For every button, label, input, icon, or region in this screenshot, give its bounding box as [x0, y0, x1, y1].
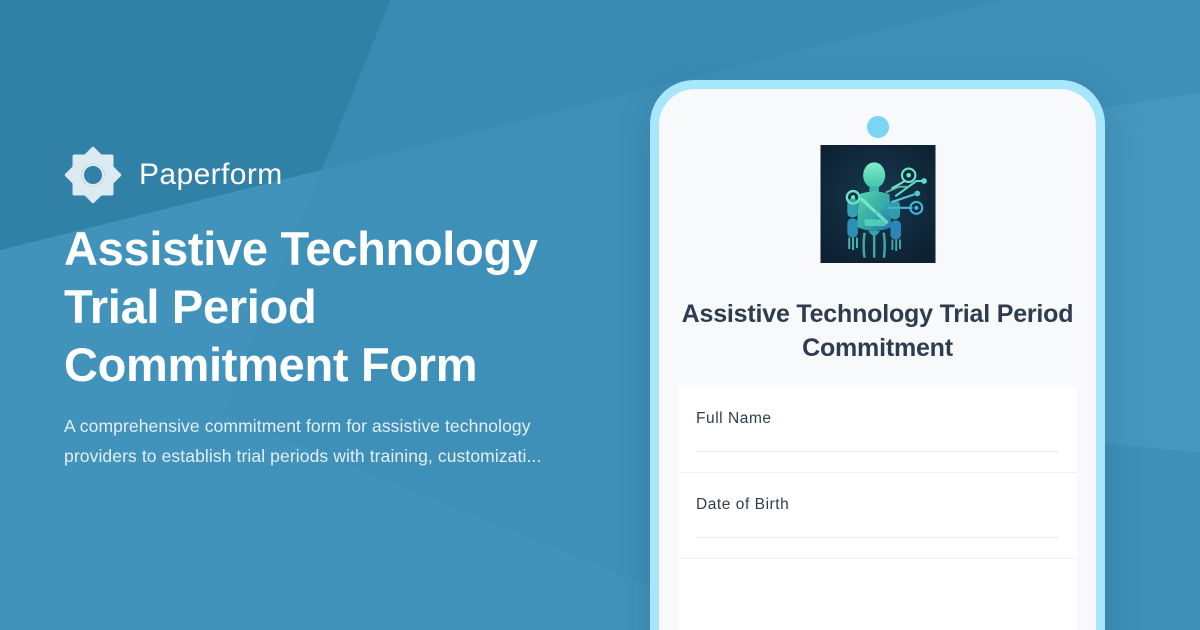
- form-field-date-of-birth[interactable]: Date of Birth: [678, 473, 1077, 559]
- form-field-next[interactable]: [678, 559, 1077, 630]
- hero-text-column: Paperform Assistive Technology Trial Per…: [64, 0, 604, 630]
- paperform-star-logo-icon: [64, 146, 122, 204]
- form-field-list: Full Name Date of Birth: [678, 387, 1077, 630]
- field-label: Date of Birth: [696, 495, 1059, 515]
- phone-screen: Assistive Technology Trial Period Commit…: [659, 89, 1096, 630]
- brand-name: Paperform: [139, 160, 283, 190]
- assistive-exoskeleton-robot-icon: [820, 145, 935, 263]
- brand-lockup: Paperform: [64, 146, 283, 204]
- page-title: Assistive Technology Trial Period Commit…: [64, 220, 604, 394]
- field-input-underline[interactable]: [696, 451, 1059, 452]
- page-description: A comprehensive commitment form for assi…: [64, 411, 584, 471]
- front-camera-dot-icon: [867, 116, 889, 138]
- field-label: Full Name: [696, 409, 1059, 429]
- form-title: Assistive Technology Trial Period Commit…: [681, 297, 1074, 365]
- field-input-underline[interactable]: [696, 537, 1059, 538]
- promo-card: Paperform Assistive Technology Trial Per…: [0, 0, 1200, 630]
- phone-mockup: Assistive Technology Trial Period Commit…: [650, 80, 1105, 630]
- form-field-full-name[interactable]: Full Name: [678, 387, 1077, 473]
